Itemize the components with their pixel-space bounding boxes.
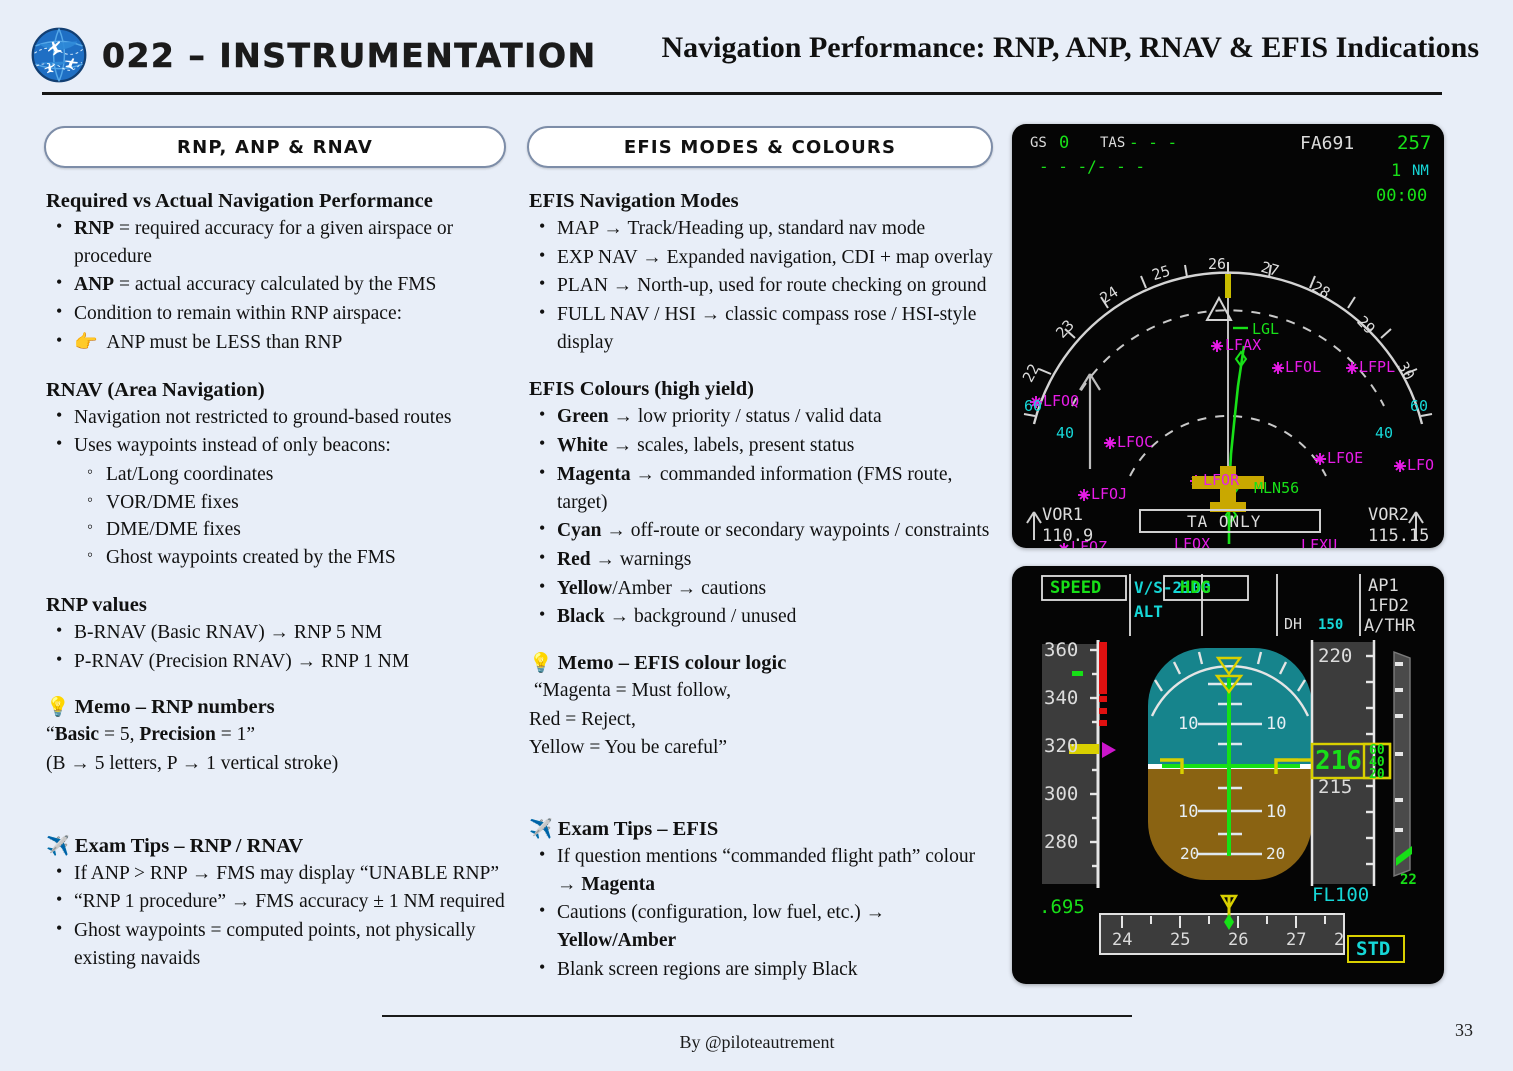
- lightbulb-icon: 💡: [46, 697, 70, 718]
- footer-credit: By @piloteautrement: [382, 1032, 1132, 1053]
- exam-tips-heading-rnp: ✈️ Exam Tips – RNP / RNAV: [46, 834, 506, 858]
- left-column: RNP, ANP & RNAV Required vs Actual Navig…: [44, 126, 506, 973]
- pfd-ap-status: AP1: [1368, 576, 1399, 596]
- memo-heading-efis: 💡 Memo – EFIS colour logic: [529, 651, 993, 675]
- brand-block: 022 – INSTRUMENTATION: [30, 26, 597, 84]
- svg-text:10: 10: [1266, 714, 1286, 734]
- nd-gs-label: GS: [1030, 135, 1047, 151]
- navigation-display: GS 0 TAS - - - - - -/- - - FA691 257 1 N…: [1012, 124, 1444, 548]
- list-item: Condition to remain within RNP airspace:: [44, 300, 506, 328]
- left-pill-label: RNP, ANP & RNAV: [177, 137, 373, 158]
- lightbulb-icon: 💡: [529, 653, 553, 674]
- exam-tips-heading-label: Exam Tips – RNP / RNAV: [75, 835, 303, 857]
- nd-range-value: 1: [1391, 161, 1401, 181]
- airplane-icon: ✈️: [529, 819, 553, 840]
- list-item: Cautions (configuration, low fuel, etc.)…: [527, 899, 993, 954]
- bullet-list-rnp-anp: RNP = required accuracy for a given airs…: [44, 215, 506, 357]
- nd-tas-value: - - -: [1129, 133, 1177, 152]
- pfd-speed-tick: 320: [1044, 735, 1078, 757]
- list-item: Black → background / unused: [527, 603, 993, 631]
- pfd-fma-thrust: SPEED: [1050, 578, 1101, 598]
- pfd-altitude-tick: 220: [1318, 645, 1352, 667]
- nd-vor1-freq: 110.9: [1042, 526, 1093, 546]
- bullet-list-rnav: Navigation not restricted to ground-base…: [44, 404, 506, 460]
- header-divider: [42, 92, 1442, 95]
- globe-airplane-icon: [30, 26, 88, 84]
- section-heading-rnav: RNAV (Area Navigation): [46, 379, 506, 402]
- bullet-list-rnp-values: B-RNAV (Basic RNAV) → RNP 5 NM P-RNAV (P…: [44, 619, 506, 675]
- bullet-list-exam-tips-efis: If question mentions “commanded flight p…: [527, 843, 993, 983]
- pfd-dh-label: DH: [1284, 615, 1302, 633]
- page-number: 33: [1455, 1020, 1473, 1041]
- memo-heading-rnp: 💡 Memo – RNP numbers: [46, 695, 506, 719]
- section-heading-efis-colours: EFIS Colours (high yield): [529, 378, 993, 401]
- svg-text:20: 20: [1266, 844, 1285, 863]
- page-title: Navigation Performance: RNP, ANP, RNAV &…: [661, 31, 1479, 65]
- bullet-list-exam-tips-rnp: If ANP > RNP → FMS may display “UNABLE R…: [44, 860, 506, 973]
- list-item: Ghost waypoints created by the FMS: [44, 544, 506, 572]
- list-item: Cyan → off-route or secondary waypoints …: [527, 517, 993, 545]
- pfd-fd-status: 1FD2: [1368, 596, 1409, 616]
- middle-column: EFIS MODES & COLOURS EFIS Navigation Mod…: [527, 126, 993, 984]
- nd-waypoint-label: LFPL: [1359, 358, 1395, 376]
- list-item: If ANP > RNP → FMS may display “UNABLE R…: [44, 860, 506, 888]
- pfd-heading-tick: 25: [1170, 930, 1190, 950]
- svg-text:10: 10: [1266, 802, 1286, 822]
- nd-waypoint-label: LFO: [1407, 456, 1434, 474]
- page-header: 022 – INSTRUMENTATION Navigation Perform…: [0, 0, 1513, 100]
- list-item: Yellow/Amber → cautions: [527, 575, 993, 603]
- list-item: Green → low priority / status / valid da…: [527, 403, 993, 431]
- pfd-mach-value: .695: [1039, 896, 1085, 918]
- nd-range-ring: 40: [1056, 424, 1074, 442]
- memo-line: “Magenta = Must follow,: [529, 677, 993, 705]
- nd-tcas-mode: TA ONLY: [1187, 512, 1261, 531]
- list-item: Magenta → commanded information (FMS rou…: [527, 461, 993, 516]
- airplane-icon: ✈️: [46, 836, 70, 857]
- pfd-speed-tick: 360: [1044, 639, 1078, 661]
- memo-heading-label: Memo – EFIS colour logic: [558, 652, 787, 674]
- list-item: Lat/Long coordinates: [44, 461, 506, 489]
- svg-text:10: 10: [1178, 714, 1198, 734]
- nd-range-ring: 60: [1024, 397, 1042, 415]
- pfd-fma-lateral: HDG: [1180, 578, 1211, 598]
- pfd-heading-tick: 27: [1286, 930, 1306, 950]
- list-item: “RNP 1 procedure” → FMS accuracy ± 1 NM …: [44, 888, 506, 916]
- nd-heading-value: 257: [1397, 132, 1431, 154]
- pfd-baro-mode: STD: [1356, 938, 1390, 960]
- nd-range-ring: 60: [1410, 397, 1428, 415]
- nd-vor2-label: VOR2: [1368, 505, 1409, 525]
- middle-column-header-pill: EFIS MODES & COLOURS: [527, 126, 993, 168]
- nd-waypoint-label: LFXU: [1301, 536, 1337, 548]
- list-item: B-RNAV (Basic RNAV) → RNP 5 NM: [44, 619, 506, 647]
- sub-bullet-list-rnav-waypoints: Lat/Long coordinates VOR/DME fixes DME/D…: [44, 461, 506, 572]
- list-item: ANP = actual accuracy calculated by the …: [44, 271, 506, 299]
- list-item: PLAN → North-up, used for route checking…: [527, 272, 993, 300]
- pfd-speed-tick: 280: [1044, 831, 1078, 853]
- pfd-athr-status: A/THR: [1364, 616, 1415, 636]
- exam-tips-heading-efis: ✈️ Exam Tips – EFIS: [529, 817, 993, 841]
- list-item: EXP NAV → Expanded navigation, CDI + map…: [527, 244, 993, 272]
- svg-text:20: 20: [1180, 844, 1199, 863]
- memo-line: (B → 5 letters, P → 1 vertical stroke): [46, 750, 506, 778]
- nd-waypoint-label: LFOL: [1285, 358, 1321, 376]
- pfd-heading-tick: 2: [1334, 930, 1344, 950]
- nd-waypoint-label: LFAX: [1225, 336, 1261, 354]
- pfd-vsi-value: 22: [1400, 872, 1417, 888]
- bullet-list-efis-modes: MAP → Track/Heading up, standard nav mod…: [527, 215, 993, 356]
- list-item: P-RNAV (Precision RNAV) → RNP 1 NM: [44, 648, 506, 676]
- list-item: Navigation not restricted to ground-base…: [44, 404, 506, 432]
- list-item: Red → warnings: [527, 546, 993, 574]
- memo-line: Yellow = You be careful”: [529, 734, 993, 762]
- pfd-dh-value: 150: [1318, 617, 1343, 633]
- pfd-flight-level: FL100: [1312, 884, 1369, 906]
- nd-green-waypoint-label: MLN56: [1254, 479, 1299, 497]
- list-item: Ghost waypoints = computed points, not p…: [44, 917, 506, 972]
- nd-wind: - - -/- - -: [1039, 157, 1145, 176]
- section-heading-efis-modes: EFIS Navigation Modes: [529, 190, 993, 213]
- pfd-altitude-current: 216: [1315, 746, 1362, 776]
- pfd-altitude-tick: 215: [1318, 776, 1352, 798]
- memo-line: “Basic = 5, Precision = 1”: [46, 721, 506, 749]
- nd-range-ring: 40: [1375, 424, 1393, 442]
- right-column-displays: GS 0 TAS - - - - - -/- - - FA691 257 1 N…: [1012, 124, 1444, 984]
- nd-range-unit: NM: [1412, 163, 1429, 179]
- left-column-header-pill: RNP, ANP & RNAV: [44, 126, 506, 168]
- list-item: Blank screen regions are simply Black: [527, 956, 993, 984]
- nd-time: 00:00: [1376, 186, 1427, 206]
- nd-waypoint-label: LFOQ: [1043, 392, 1079, 410]
- bullet-list-efis-colours: Green → low priority / status / valid da…: [527, 403, 993, 631]
- nd-compass-tick: 26: [1208, 255, 1226, 273]
- primary-flight-display: 10 10 10 10 20 20: [1012, 566, 1444, 984]
- nd-waypoint-label: LFOR: [1203, 471, 1239, 489]
- pfd-heading-tick: 24: [1112, 930, 1132, 950]
- list-item: Uses waypoints instead of only beacons:: [44, 432, 506, 460]
- nd-gs-value: 0: [1059, 133, 1069, 153]
- nd-waypoint-label: LFOX: [1174, 535, 1210, 548]
- middle-pill-label: EFIS MODES & COLOURS: [624, 137, 896, 158]
- list-item: RNP = required accuracy for a given airs…: [44, 215, 506, 270]
- list-item: MAP → Track/Heading up, standard nav mod…: [527, 215, 993, 243]
- memo-line: Red = Reject,: [529, 706, 993, 734]
- svg-text:10: 10: [1178, 802, 1198, 822]
- pfd-speed-tick: 340: [1044, 687, 1078, 709]
- memo-heading-label: Memo – RNP numbers: [75, 696, 275, 718]
- section-heading-rnp-values: RNP values: [46, 594, 506, 617]
- nd-flight-id: FA691: [1300, 133, 1354, 154]
- nd-green-waypoint-label: LGL: [1252, 320, 1279, 338]
- footer-divider: [382, 1015, 1132, 1017]
- nd-waypoint-label: LFOC: [1117, 433, 1153, 451]
- nd-waypoint-label: LFOJ: [1091, 485, 1127, 503]
- pfd-speed-tick: 300: [1044, 783, 1078, 805]
- list-item: White → scales, labels, present status: [527, 432, 993, 460]
- nd-vor2-freq: 115.15: [1368, 526, 1429, 546]
- nd-vor1-label: VOR1: [1042, 505, 1083, 525]
- list-item: DME/DME fixes: [44, 516, 506, 544]
- pfd-altitude-digit: 20: [1369, 767, 1385, 782]
- list-item: 👉 ANP must be LESS than RNP: [44, 329, 506, 357]
- exam-tips-heading-label: Exam Tips – EFIS: [558, 818, 718, 840]
- list-item: FULL NAV / HSI → classic compass rose / …: [527, 301, 993, 356]
- list-item: If question mentions “commanded flight p…: [527, 843, 993, 898]
- pfd-heading-tick: 26: [1228, 930, 1248, 950]
- nd-tas-label: TAS: [1100, 135, 1125, 151]
- section-heading-rnp-anp: Required vs Actual Navigation Performanc…: [46, 190, 506, 213]
- list-item: VOR/DME fixes: [44, 489, 506, 517]
- nd-waypoint-label: LFOE: [1327, 449, 1363, 467]
- brand-title: 022 – INSTRUMENTATION: [102, 36, 597, 75]
- pfd-fma-vertical-armed: ALT: [1134, 602, 1163, 621]
